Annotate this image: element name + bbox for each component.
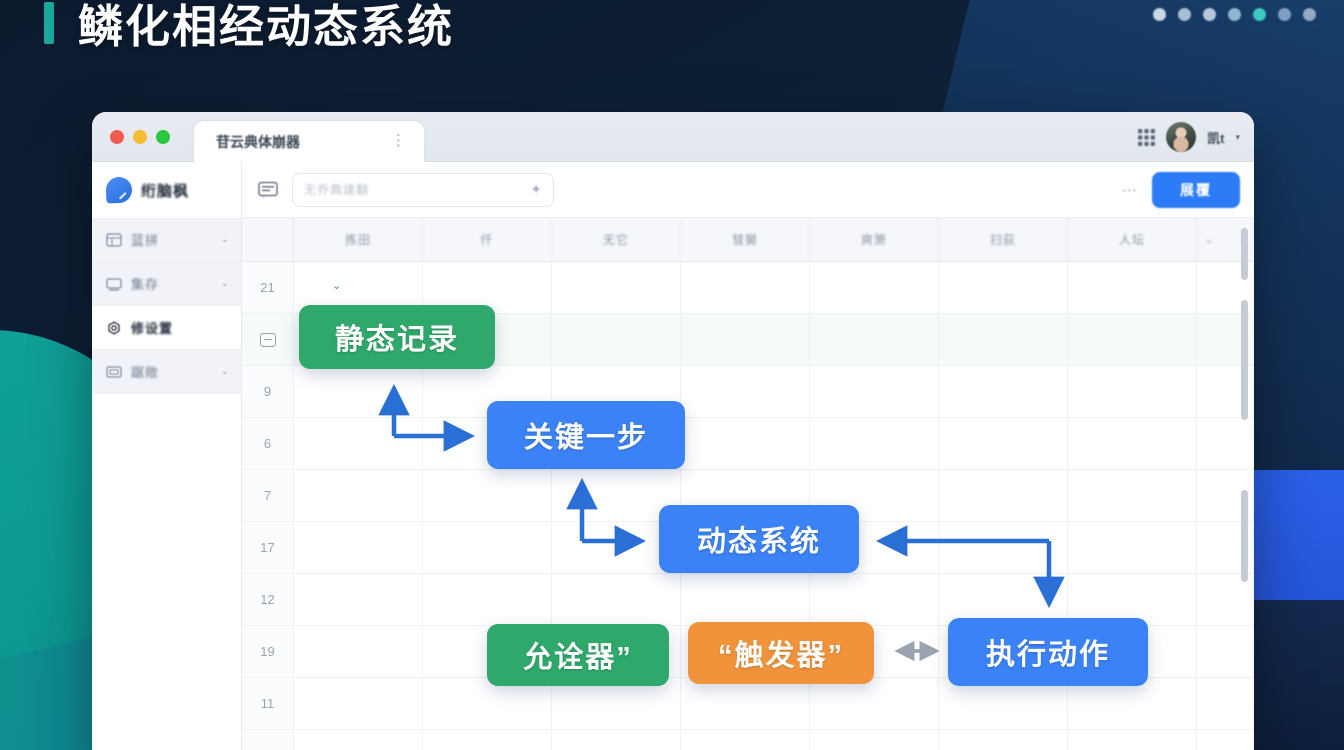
chevron-down-icon[interactable]: ⌄ [221, 234, 229, 245]
table-cell[interactable] [681, 470, 810, 521]
row-number[interactable]: 19 [242, 626, 294, 677]
table-cell[interactable] [939, 262, 1068, 313]
sidebar-item-1[interactable]: 蓝拼⌄ [92, 218, 241, 262]
column-header-7[interactable]: 人坛 [1068, 218, 1197, 261]
table-cell[interactable] [1068, 366, 1197, 417]
table-cell[interactable] [552, 678, 681, 729]
row-number[interactable]: 9 [242, 366, 294, 417]
window-titlebar: 苷云典体崩器 ⋮ 凯t ▾ [92, 112, 1254, 162]
toolbar: 无乔典建翻 ✦ ⋯ 展覆 [242, 162, 1254, 218]
row-number[interactable] [242, 730, 294, 750]
table-cell[interactable] [1068, 522, 1197, 573]
brand[interactable]: 绗脑枫 [92, 162, 241, 218]
table-cell[interactable] [423, 574, 552, 625]
table-cell[interactable] [939, 626, 1068, 677]
table-cell[interactable] [939, 418, 1068, 469]
table-body: 21⌄96717121911 [242, 262, 1254, 750]
sidebar-item-label: 修设置 [131, 318, 229, 337]
sparkle-icon[interactable]: ✦ [530, 181, 542, 198]
title-accent-bar [44, 2, 54, 44]
table-row[interactable]: 7 [242, 470, 1254, 522]
table-cell[interactable] [810, 574, 939, 625]
table-cell[interactable] [681, 262, 810, 313]
table-cell[interactable] [939, 314, 1068, 365]
table-cell[interactable] [1068, 470, 1197, 521]
table-cell[interactable] [552, 366, 681, 417]
table-cell[interactable] [294, 366, 423, 417]
table-cell[interactable] [681, 730, 810, 750]
maximize-button[interactable] [156, 130, 170, 144]
table-header-row: 拣田仟无它彗舅爽箫扫荻人坛⌄› [242, 218, 1254, 262]
row-number-header [242, 218, 294, 261]
primary-action-button[interactable]: 展覆 [1152, 172, 1240, 208]
table-cell[interactable] [810, 262, 939, 313]
table-cell[interactable] [423, 678, 552, 729]
sidebar-item-4[interactable]: 踞敞⌄ [92, 350, 241, 394]
table-cell[interactable] [810, 522, 939, 573]
column-header-5[interactable]: 爽箫 [810, 218, 939, 261]
table-cell[interactable] [681, 418, 810, 469]
dot-4 [1228, 8, 1241, 21]
table-cell[interactable] [423, 262, 552, 313]
table-row[interactable]: 6 [242, 418, 1254, 470]
table-cell[interactable] [681, 366, 810, 417]
table-cell[interactable] [1068, 730, 1197, 750]
sidebar: 绗脑枫 蓝拼⌄集存⌄修设置踞敞⌄ [92, 162, 242, 750]
chevron-down-icon[interactable]: ⌄ [332, 280, 341, 292]
sidebar-item-label: 蓝拼 [131, 230, 212, 249]
settings-icon [106, 320, 122, 336]
scrollbar-thumb-top[interactable] [1241, 228, 1248, 280]
table-cell[interactable] [1068, 626, 1197, 677]
brand-logo-icon [106, 177, 133, 204]
row-number[interactable] [242, 314, 294, 365]
scrollbar-thumb-low[interactable] [1241, 490, 1248, 582]
table-cell[interactable] [294, 626, 423, 677]
page-title: 鳞化相经动态系统 [78, 0, 454, 55]
chevron-down-icon[interactable]: ⌄ [1205, 233, 1215, 246]
table-cell[interactable] [939, 366, 1068, 417]
table-cell[interactable] [552, 418, 681, 469]
apps-grid-icon[interactable] [1138, 129, 1155, 146]
layout-icon [106, 364, 122, 380]
table-cell[interactable] [939, 678, 1068, 729]
dot-3 [1203, 8, 1216, 21]
chevron-down-icon[interactable]: ▾ [1235, 132, 1240, 143]
table-cell[interactable] [681, 574, 810, 625]
table-row[interactable]: 17 [242, 522, 1254, 574]
table-cell[interactable] [552, 626, 681, 677]
search-placeholder: 无乔典建翻 [304, 181, 530, 198]
chevron-down-icon[interactable]: ⌄ [221, 366, 229, 377]
avatar[interactable] [1166, 122, 1196, 152]
table-cell[interactable] [423, 366, 552, 417]
header-dot-row [1153, 8, 1316, 21]
table-cell[interactable] [681, 522, 810, 573]
table-cell[interactable] [552, 574, 681, 625]
table-cell[interactable] [1068, 314, 1197, 365]
brand-name: 绗脑枫 [141, 180, 189, 201]
table-cell[interactable] [294, 522, 423, 573]
window-body: 绗脑枫 蓝拼⌄集存⌄修设置踞敞⌄ 无乔典建翻 ✦ ⋯ 展覆 [92, 162, 1254, 750]
table-cell[interactable] [552, 470, 681, 521]
table-cell[interactable] [552, 522, 681, 573]
row-number[interactable]: 6 [242, 418, 294, 469]
app-window: 苷云典体崩器 ⋮ 凯t ▾ 绗脑枫 蓝拼⌄集存⌄修设置踞敞⌄ [92, 112, 1254, 750]
table-row[interactable]: 11 [242, 678, 1254, 730]
table-cell[interactable] [810, 626, 939, 677]
table-cell[interactable] [423, 418, 552, 469]
column-header-6[interactable]: 扫荻 [939, 218, 1068, 261]
column-header-2[interactable]: 仟 [423, 218, 552, 261]
table-cell[interactable] [552, 262, 681, 313]
chevron-down-icon[interactable]: ⌄ [221, 278, 229, 289]
row-number[interactable]: 21 [242, 262, 294, 313]
table-cell[interactable] [1068, 574, 1197, 625]
sidebar-item-label: 集存 [131, 274, 212, 293]
table-row[interactable]: 12 [242, 574, 1254, 626]
table-cell[interactable] [552, 314, 681, 365]
table-cell[interactable] [1068, 262, 1197, 313]
main-panel: 无乔典建翻 ✦ ⋯ 展覆 拣田仟无它彗舅爽箫扫荻人坛⌄› 21⌄96717121… [242, 162, 1254, 750]
table-cell[interactable] [294, 678, 423, 729]
comment-icon[interactable] [258, 181, 278, 199]
vertical-scrollbar[interactable] [1241, 228, 1248, 750]
row-number[interactable]: 17 [242, 522, 294, 573]
table-cell[interactable] [423, 314, 552, 365]
window-right-controls: 凯t ▾ [1138, 122, 1240, 152]
row-number[interactable]: 7 [242, 470, 294, 521]
table-cell[interactable] [552, 730, 681, 750]
dot-7 [1303, 8, 1316, 21]
table-row[interactable]: 21⌄ [242, 262, 1254, 314]
sidebar-item-2[interactable]: 集存⌄ [92, 262, 241, 306]
table-cell[interactable] [939, 574, 1068, 625]
table-cell[interactable] [294, 574, 423, 625]
dot-5 [1253, 8, 1266, 21]
column-header-1[interactable]: 拣田 [294, 218, 423, 261]
account-name: 凯t [1207, 128, 1224, 147]
table-cell[interactable] [939, 730, 1068, 750]
table-cell[interactable] [294, 730, 423, 750]
spreadsheet: 拣田仟无它彗舅爽箫扫荻人坛⌄› 21⌄96717121911 [242, 218, 1254, 750]
table-cell[interactable] [939, 522, 1068, 573]
table-cell[interactable] [810, 418, 939, 469]
table-cell[interactable] [1068, 418, 1197, 469]
table-row[interactable] [242, 730, 1254, 750]
minimize-button[interactable] [133, 130, 147, 144]
row-number[interactable]: 12 [242, 574, 294, 625]
search-input[interactable]: 无乔典建翻 ✦ [292, 173, 554, 207]
table-row[interactable]: 9 [242, 366, 1254, 418]
table-cell[interactable] [423, 522, 552, 573]
dot-6 [1278, 8, 1291, 21]
monitor-icon [106, 276, 122, 292]
tab-menu-icon[interactable]: ⋮ [391, 133, 406, 148]
table-cell[interactable] [423, 470, 552, 521]
sidebar-item-3[interactable]: 修设置 [92, 306, 241, 350]
traffic-lights[interactable] [110, 130, 170, 144]
row-number[interactable]: 11 [242, 678, 294, 729]
table-cell[interactable] [939, 470, 1068, 521]
table-row[interactable]: 19 [242, 626, 1254, 678]
table-cell[interactable]: ⌄ [294, 262, 423, 313]
table-icon [106, 232, 122, 248]
collapse-row-icon[interactable] [260, 333, 276, 347]
close-button[interactable] [110, 130, 124, 144]
table-cell[interactable] [294, 314, 423, 365]
table-cell[interactable] [294, 418, 423, 469]
table-cell[interactable] [681, 626, 810, 677]
sidebar-nav: 蓝拼⌄集存⌄修设置踞敞⌄ [92, 218, 241, 394]
table-row[interactable] [242, 314, 1254, 366]
dot-1 [1153, 8, 1166, 21]
sidebar-item-label: 踞敞 [131, 362, 212, 381]
column-header-3[interactable]: 无它 [552, 218, 681, 261]
table-cell[interactable] [681, 678, 810, 729]
table-cell[interactable] [1068, 678, 1197, 729]
more-options-icon[interactable]: ⋯ [1122, 181, 1138, 199]
table-cell[interactable] [423, 626, 552, 677]
table-cell[interactable] [423, 730, 552, 750]
dot-2 [1178, 8, 1191, 21]
table-cell[interactable] [810, 366, 939, 417]
table-cell[interactable] [681, 314, 810, 365]
page-header: 鳞化相经动态系统 [0, 0, 1344, 58]
browser-tab[interactable]: 苷云典体崩器 ⋮ [194, 121, 424, 162]
table-cell[interactable] [810, 314, 939, 365]
table-cell[interactable] [810, 730, 939, 750]
table-cell[interactable] [810, 678, 939, 729]
table-cell[interactable] [810, 470, 939, 521]
browser-tab-title: 苷云典体崩器 [216, 132, 300, 152]
table-cell[interactable] [294, 470, 423, 521]
column-header-4[interactable]: 彗舅 [681, 218, 810, 261]
scrollbar-thumb-mid[interactable] [1241, 300, 1248, 420]
